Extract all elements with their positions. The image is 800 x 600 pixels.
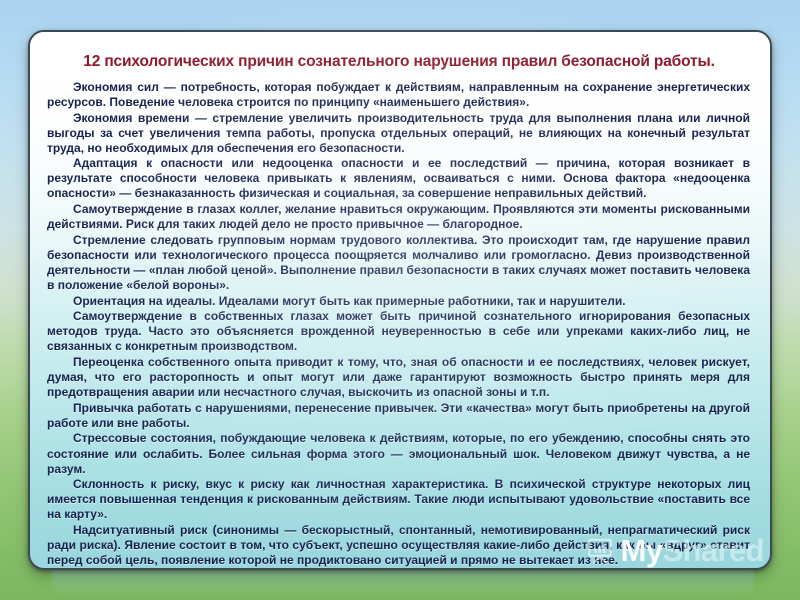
panel-reflection — [52, 570, 754, 600]
paragraph: Переоценка собственного опыта приводит к… — [47, 355, 750, 400]
paragraph: Стремление следовать групповым нормам тр… — [47, 233, 750, 293]
paragraph: Привычка работать с нарушениями, перенес… — [47, 401, 750, 431]
paragraph: Склонность к риску, вкус к риску как лич… — [47, 477, 750, 522]
paragraph: Самоутверждение в собственных глазах мож… — [47, 309, 750, 354]
body-text: Экономия сил — потребность, которая побу… — [46, 80, 752, 569]
slide-canvas: 12 психологических причин сознательного … — [0, 0, 800, 600]
paragraph: Самоутверждение в глазах коллег, желание… — [47, 202, 750, 232]
paragraph: Адаптация к опасности или недооценка опа… — [47, 156, 750, 201]
panel-inner: 12 психологических причин сознательного … — [30, 32, 770, 568]
paragraph: Надситуативный риск (синонимы — бескорыс… — [47, 523, 750, 568]
paragraph: Экономия времени — стремление увеличить … — [47, 111, 750, 156]
paragraph: Ориентация на идеалы. Идеалами могут быт… — [47, 294, 750, 309]
slide-title: 12 психологических причин сознательного … — [46, 53, 752, 71]
paragraph: Экономия сил — потребность, которая побу… — [47, 80, 750, 110]
paragraph: Стрессовые состояния, побуждающие челове… — [47, 431, 750, 476]
content-panel: 12 психологических причин сознательного … — [28, 30, 772, 570]
